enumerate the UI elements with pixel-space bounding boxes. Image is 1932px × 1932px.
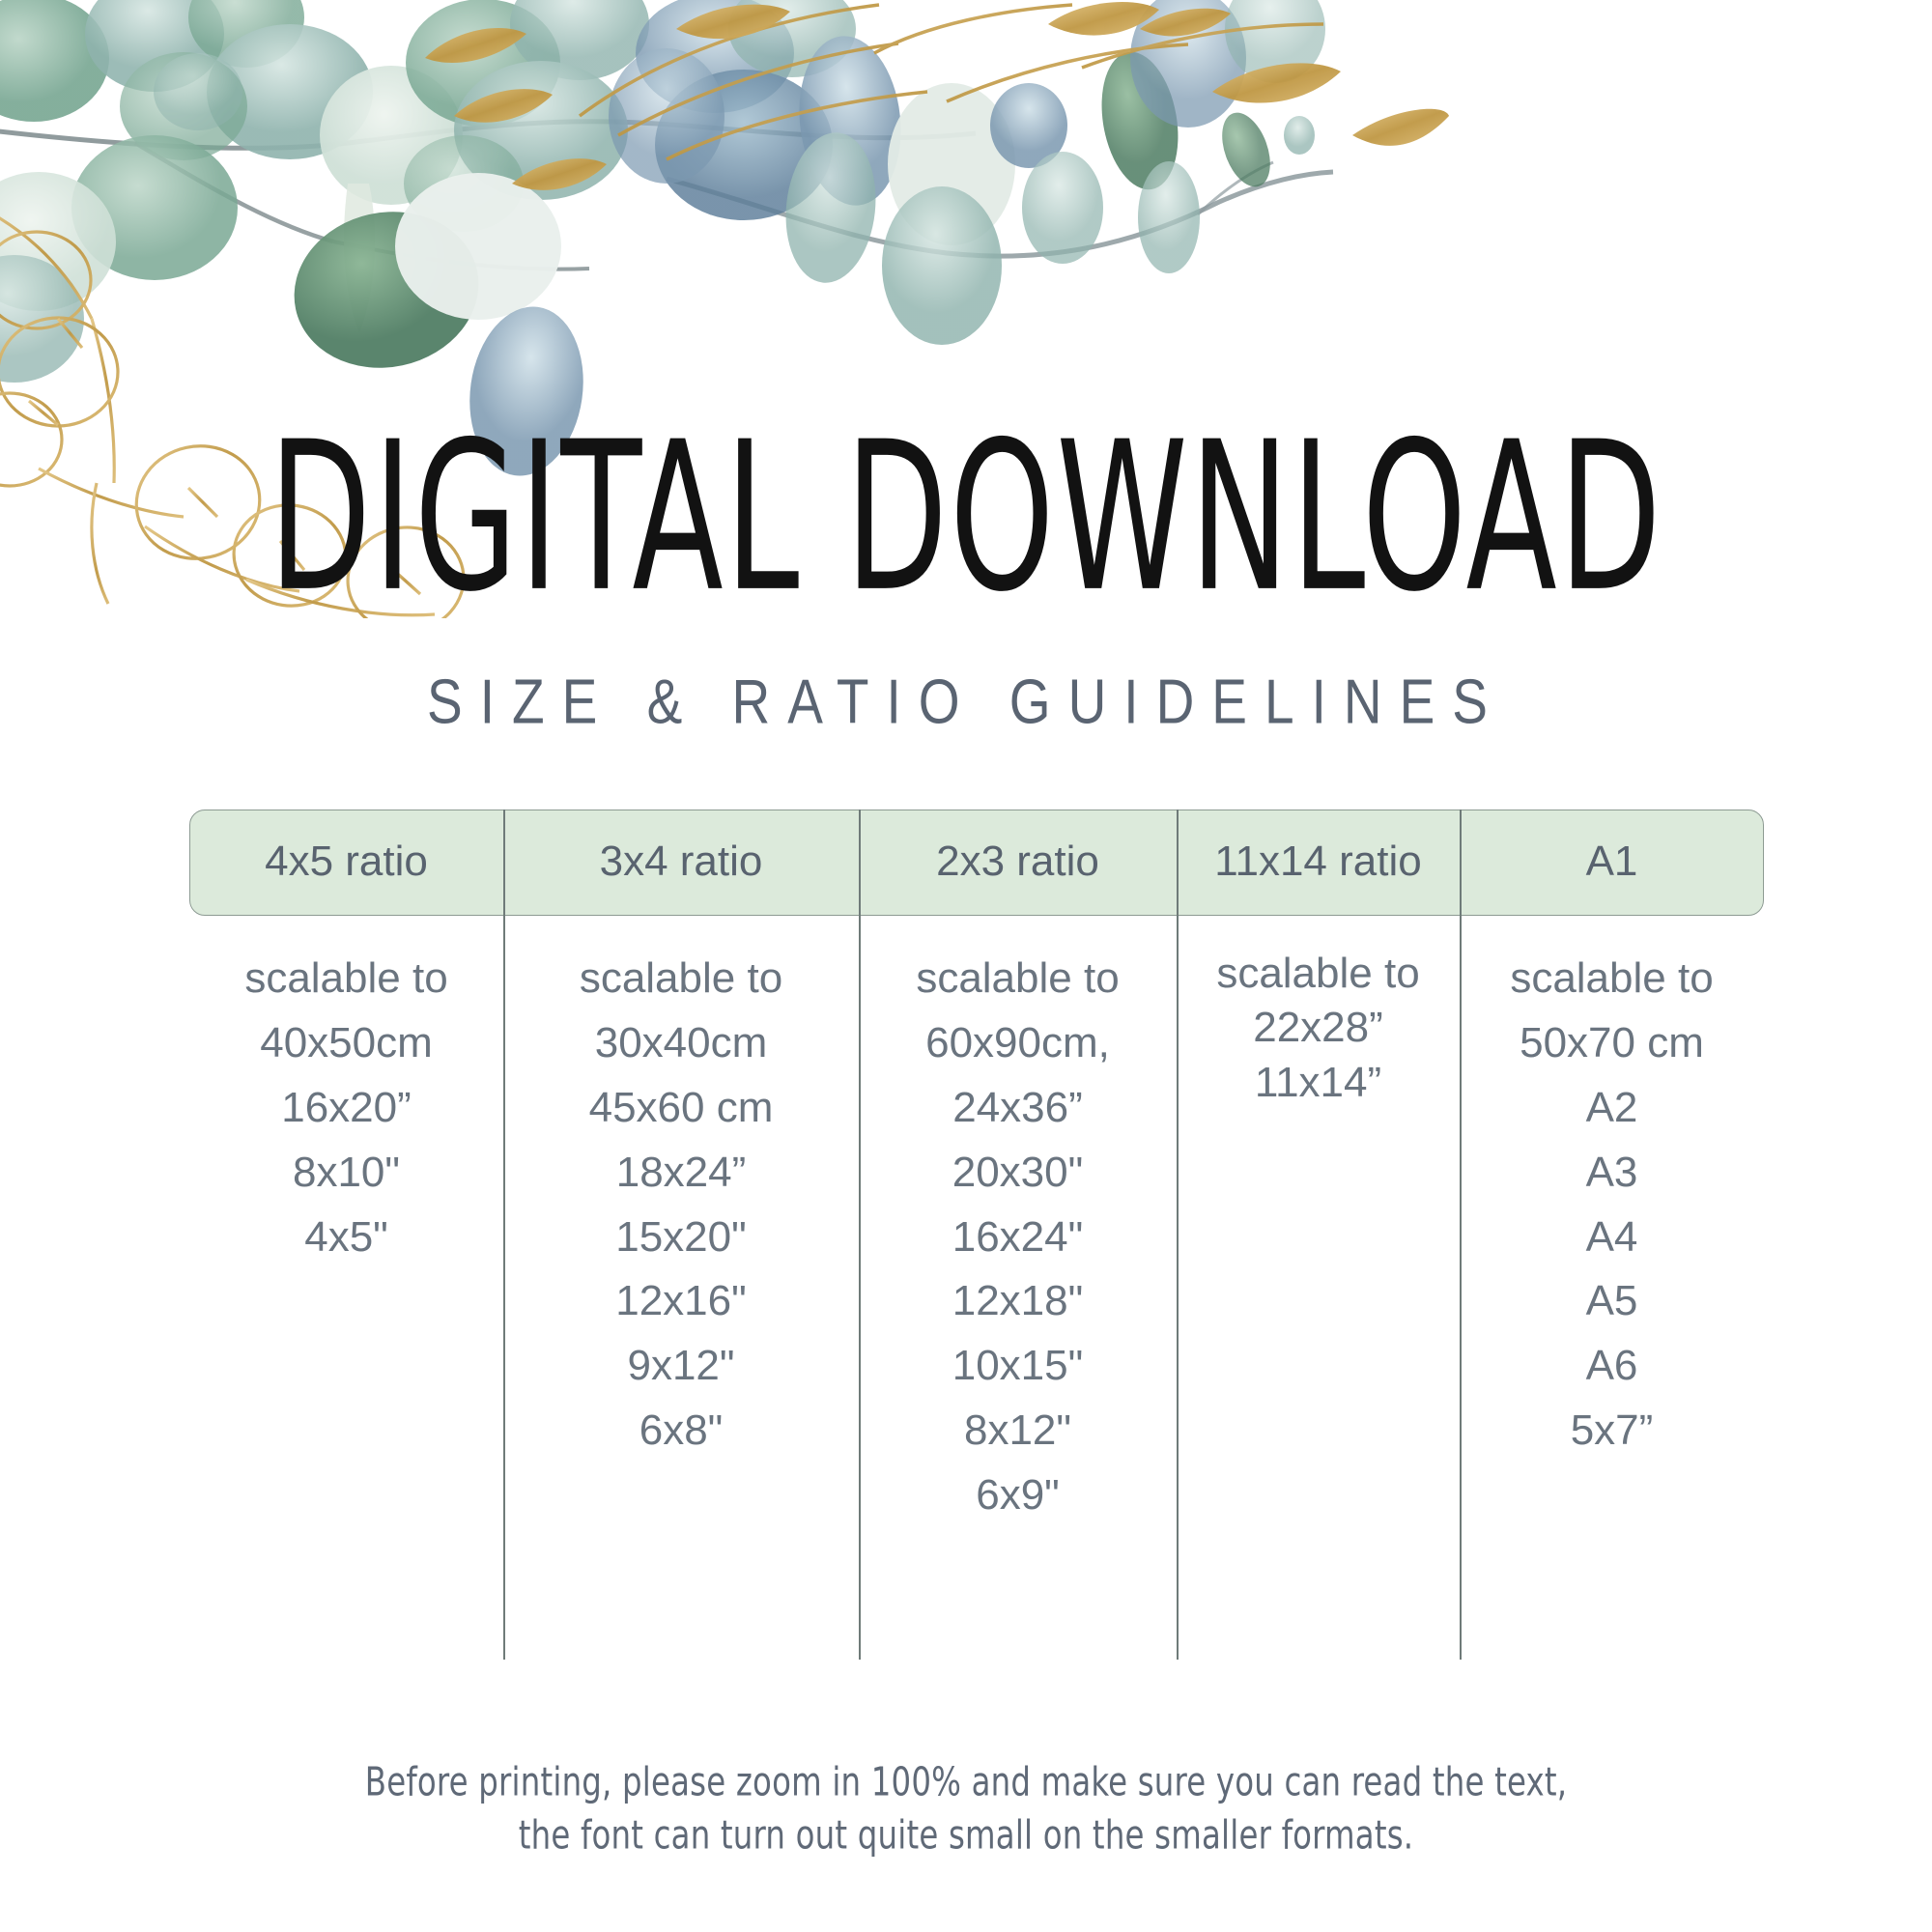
column-divider-4: [1460, 810, 1462, 1660]
list-item: scalable to: [189, 947, 503, 1011]
column-header-11x14: 11x14 ratio: [1177, 810, 1460, 914]
list-item: 9x12": [503, 1334, 859, 1399]
list-item: A3: [1460, 1141, 1764, 1206]
list-item: 60x90cm,: [859, 1011, 1177, 1076]
column-cell-4x5: scalable to 40x50cm 16x20” 8x10" 4x5": [189, 914, 503, 1528]
list-item: 40x50cm: [189, 1011, 503, 1076]
column-divider-1: [503, 810, 505, 1660]
footer-line-2: the font can turn out quite small on the…: [0, 1806, 1932, 1866]
list-item: 45x60 cm: [503, 1076, 859, 1141]
list-item: 18x24”: [503, 1141, 859, 1206]
list-item: 10x15": [859, 1334, 1177, 1399]
gold-accents: [580, 5, 1323, 159]
column-header-2x3: 2x3 ratio: [859, 810, 1177, 914]
list-item: 15x20": [503, 1206, 859, 1270]
list-item: 6x9": [859, 1463, 1177, 1528]
page-subtitle: SIZE & RATIO GUIDELINES: [0, 560, 1932, 738]
list-item: 20x30": [859, 1141, 1177, 1206]
column-divider-2: [859, 810, 861, 1660]
list-item: 12x16": [503, 1269, 859, 1334]
size-ratio-table: 4x5 ratio 3x4 ratio 2x3 ratio 11x14 rati…: [189, 810, 1764, 1528]
list-item: 8x10": [189, 1141, 503, 1206]
table-header-row: 4x5 ratio 3x4 ratio 2x3 ratio 11x14 rati…: [189, 810, 1764, 914]
column-cell-11x14: scalable to 22x28” 11x14”: [1177, 914, 1460, 1528]
column-header-a1: A1: [1460, 810, 1764, 914]
list-item: 22x28”: [1177, 1001, 1460, 1055]
list-item: A6: [1460, 1334, 1764, 1399]
list-item: 8x12": [859, 1399, 1177, 1463]
leaf-cluster-right: [609, 0, 1325, 345]
column-divider-3: [1177, 810, 1179, 1660]
list-item: scalable to: [1177, 947, 1460, 1001]
list-item: 6x8": [503, 1399, 859, 1463]
footer-line-1: Before printing, please zoom in 100% and…: [0, 1753, 1932, 1813]
list-item: 50x70 cm: [1460, 1011, 1764, 1076]
list-item: scalable to: [503, 947, 859, 1011]
branch-stem-right: [667, 162, 1333, 256]
branch-stem-main: [0, 122, 976, 270]
list-item: A5: [1460, 1269, 1764, 1334]
list-item: 16x20”: [189, 1076, 503, 1141]
list-item: A4: [1460, 1206, 1764, 1270]
column-header-3x4: 3x4 ratio: [503, 810, 859, 914]
list-item: 12x18": [859, 1269, 1177, 1334]
column-header-4x5: 4x5 ratio: [189, 810, 503, 914]
list-item: 4x5": [189, 1206, 503, 1270]
footer-note: Before printing, please zoom in 100% and…: [0, 1753, 1932, 1859]
table-body-row: scalable to 40x50cm 16x20” 8x10" 4x5" sc…: [189, 914, 1764, 1528]
list-item: 24x36”: [859, 1076, 1177, 1141]
column-cell-2x3: scalable to 60x90cm, 24x36” 20x30" 16x24…: [859, 914, 1177, 1528]
list-item: scalable to: [859, 947, 1177, 1011]
list-item: 16x24": [859, 1206, 1177, 1270]
list-item: 11x14”: [1177, 1056, 1460, 1110]
list-item: 5x7”: [1460, 1399, 1764, 1463]
list-item: 30x40cm: [503, 1011, 859, 1076]
column-cell-a1: scalable to 50x70 cm A2 A3 A4 A5 A6 5x7”: [1460, 914, 1764, 1528]
column-cell-3x4: scalable to 30x40cm 45x60 cm 18x24” 15x2…: [503, 914, 859, 1528]
title-block: DIGITAL DOWNLOAD SIZE & RATIO GUIDELINES: [0, 415, 1932, 711]
gold-leaves: [425, 2, 1449, 190]
list-item: A2: [1460, 1076, 1764, 1141]
list-item: scalable to: [1460, 947, 1764, 1011]
